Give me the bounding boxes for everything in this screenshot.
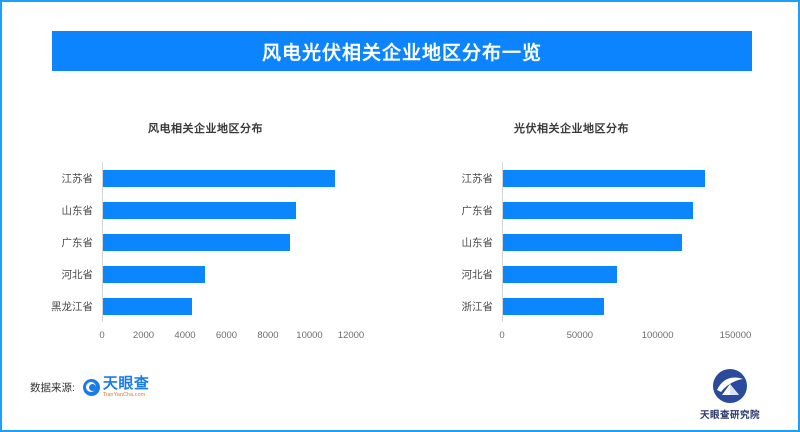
infographic-page: 风电光伏相关企业地区分布一览 风电相关企业地区分布 江苏省山东省广东省河北省黑龙…: [0, 0, 800, 432]
bar: [103, 202, 296, 219]
x-tick-label: 8000: [257, 330, 278, 341]
x-tick-label: 0: [499, 330, 504, 341]
category-label: 山东省: [2, 194, 102, 226]
tianyancha-wordmark: 天眼查 TianYanCha.com: [103, 376, 150, 398]
chart-panel-solar: 光伏相关企业地区分布 江苏省广东省山东省河北省浙江省 0500001000001…: [402, 102, 800, 362]
tianyancha-logo: 天眼查 TianYanCha.com: [83, 376, 150, 398]
bar: [503, 298, 604, 315]
bar: [503, 170, 705, 187]
bar-slot: [503, 258, 752, 290]
bar-slot: [503, 162, 752, 194]
bar: [103, 298, 192, 315]
category-label: 江苏省: [402, 162, 502, 194]
bars-solar: [502, 162, 752, 322]
x-axis-solar: 050000100000150000: [502, 324, 752, 346]
plot-area-solar: 江苏省广东省山东省河北省浙江省 050000100000150000: [402, 162, 800, 358]
chart-title-solar: 光伏相关企业地区分布: [402, 120, 800, 136]
circle-lens-icon: [83, 379, 100, 396]
bar: [103, 266, 205, 283]
category-label: 江苏省: [2, 162, 102, 194]
category-labels-solar: 江苏省广东省山东省河北省浙江省: [402, 162, 502, 322]
x-tick-label: 0: [99, 330, 104, 341]
x-tick-label: 150000: [720, 330, 752, 341]
x-tick-label: 100000: [642, 330, 674, 341]
tianyancha-name-en: TianYanCha.com: [103, 393, 150, 398]
bar: [503, 234, 682, 251]
data-source-block: 数据来源: 天眼查 TianYanCha.com: [30, 376, 149, 398]
category-label: 山东省: [402, 226, 502, 258]
bar-slot: [103, 226, 352, 258]
bar-slot: [503, 290, 752, 322]
x-tick-label: 4000: [174, 330, 195, 341]
bar-slot: [103, 194, 352, 226]
bar: [103, 234, 290, 251]
category-label: 河北省: [2, 258, 102, 290]
bar: [503, 266, 617, 283]
category-label: 广东省: [402, 194, 502, 226]
category-label: 河北省: [402, 258, 502, 290]
charts-container: 风电相关企业地区分布 江苏省山东省广东省河北省黑龙江省 020004000600…: [2, 102, 800, 362]
x-tick-label: 2000: [133, 330, 154, 341]
category-labels-wind: 江苏省山东省广东省河北省黑龙江省: [2, 162, 102, 322]
mountain-circle-emblem-icon: [712, 368, 748, 404]
x-tick-label: 6000: [216, 330, 237, 341]
x-axis-wind: 020004000600080001000012000: [102, 324, 352, 346]
bar-slot: [103, 290, 352, 322]
category-label: 黑龙江省: [2, 290, 102, 322]
research-institute-name: 天眼查研究院: [700, 407, 760, 421]
bar: [503, 202, 693, 219]
bar-slot: [503, 226, 752, 258]
page-title: 风电光伏相关企业地区分布一览: [262, 38, 542, 65]
x-tick-label: 10000: [296, 330, 322, 341]
bar-slot: [103, 162, 352, 194]
plot-area-wind: 江苏省山东省广东省河北省黑龙江省 02000400060008000100001…: [2, 162, 402, 358]
footer: 数据来源: 天眼查 TianYanCha.com 天眼查研究院: [2, 364, 800, 430]
bar: [103, 170, 335, 187]
category-label: 广东省: [2, 226, 102, 258]
category-label: 浙江省: [402, 290, 502, 322]
title-banner: 风电光伏相关企业地区分布一览: [52, 31, 752, 71]
bars-wind: [102, 162, 352, 322]
chart-panel-wind: 风电相关企业地区分布 江苏省山东省广东省河北省黑龙江省 020004000600…: [2, 102, 402, 362]
bar-slot: [503, 194, 752, 226]
bar-slot: [103, 258, 352, 290]
tianyancha-name-cn: 天眼查: [103, 376, 150, 391]
x-tick-label: 12000: [338, 330, 364, 341]
x-tick-label: 50000: [567, 330, 593, 341]
data-source-label: 数据来源:: [30, 380, 75, 395]
chart-title-wind: 风电相关企业地区分布: [2, 120, 402, 136]
research-institute-logo: 天眼查研究院: [684, 368, 776, 421]
